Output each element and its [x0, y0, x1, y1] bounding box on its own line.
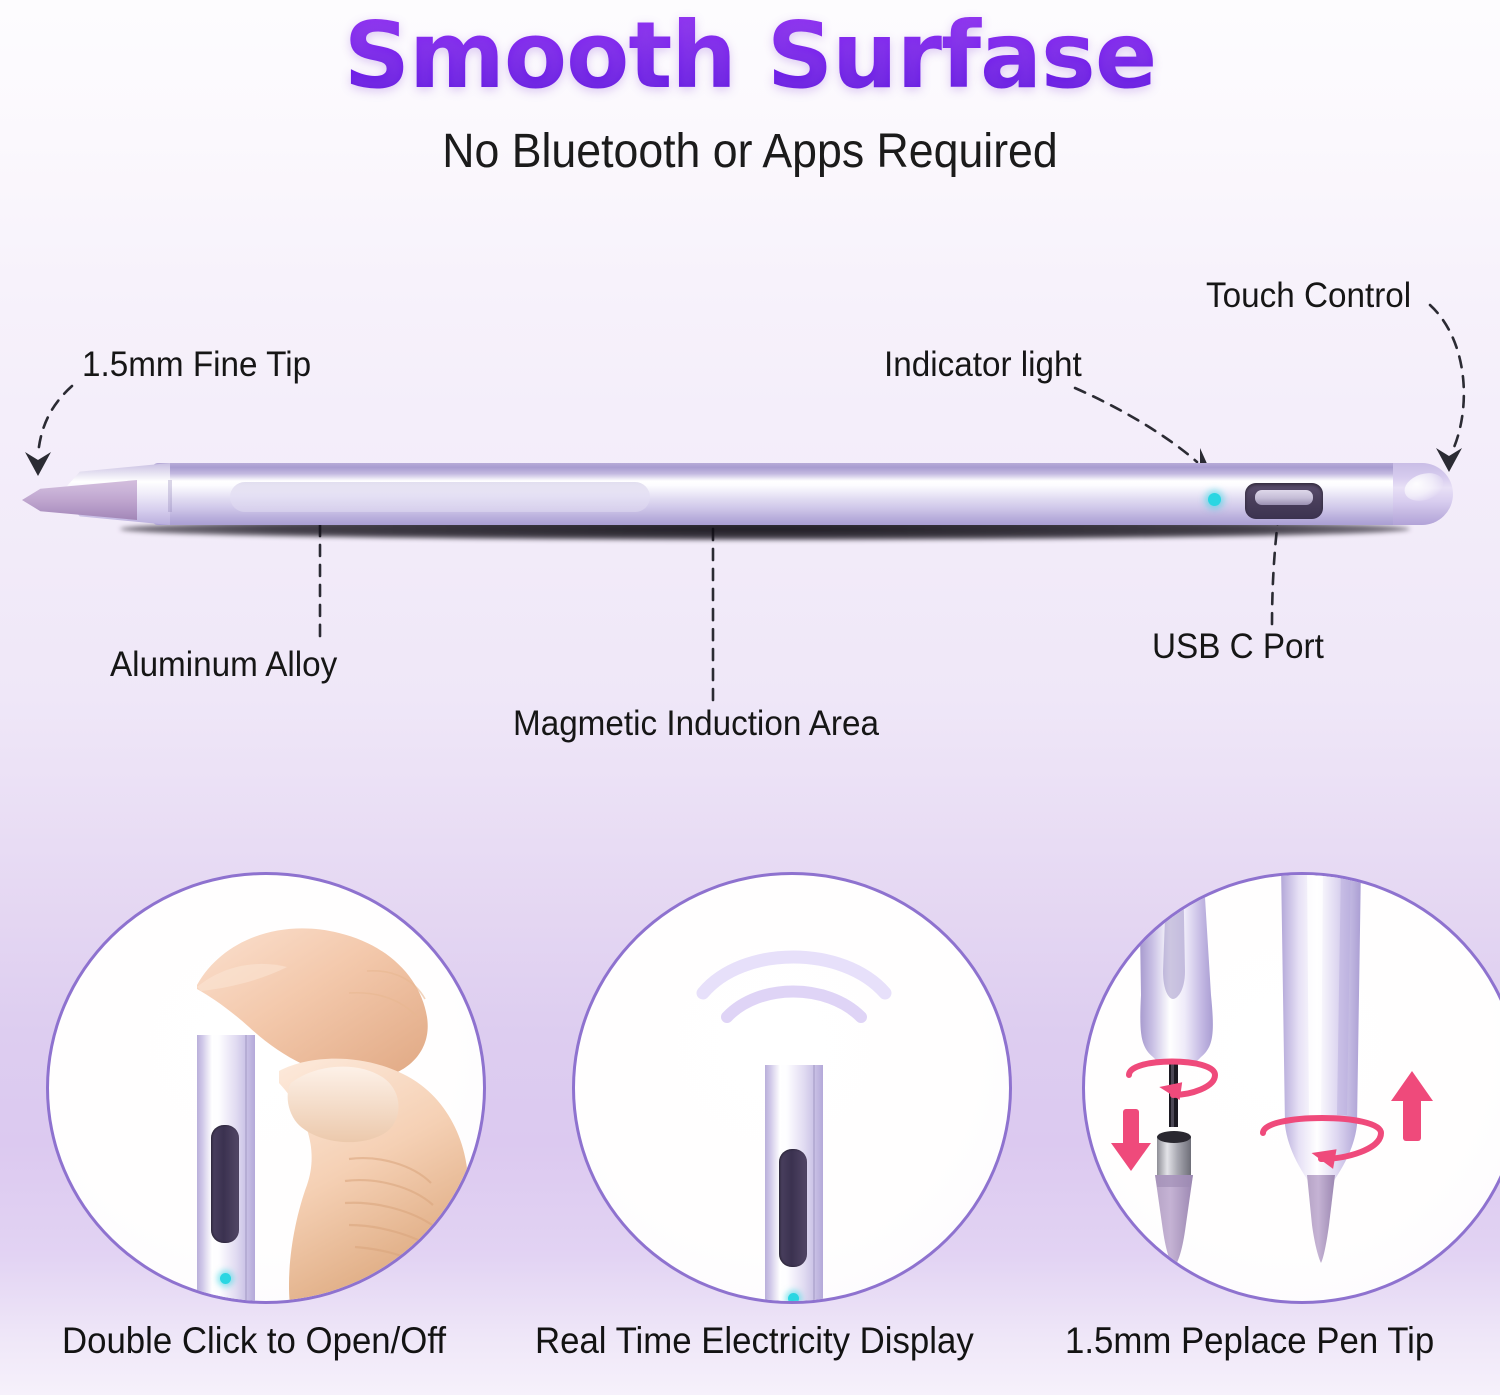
- page-title: Smooth Surfase: [0, 2, 1500, 109]
- usb-c-port: [779, 1149, 807, 1267]
- infographic-canvas: Smooth Surfase No Bluetooth or Apps Requ…: [0, 0, 1500, 1395]
- callout-label-fine-tip: 1.5mm Fine Tip: [82, 345, 311, 385]
- callout-label-aluminum-alloy: Aluminum Alloy: [110, 645, 337, 685]
- callout-label-indicator-light: Indicator light: [884, 345, 1082, 385]
- hand-illustration: [49, 875, 486, 1304]
- pen-tip: [22, 480, 137, 520]
- feature-panel-double-click: [46, 872, 486, 1304]
- panel-caption-replace-tip: 1.5mm Peplace Pen Tip: [1065, 1320, 1434, 1362]
- indicator-led: [1208, 493, 1221, 506]
- feature-panel-electricity: [572, 872, 1012, 1304]
- page-subtitle: No Bluetooth or Apps Required: [53, 124, 1448, 179]
- indicator-led: [788, 1293, 799, 1304]
- callout-label-touch-control: Touch Control: [1206, 276, 1411, 316]
- tip-replacement-diagram: [1085, 875, 1500, 1304]
- pen-seam-line: [813, 1065, 815, 1304]
- feature-circle-double-click: [46, 872, 486, 1304]
- feature-panel-replace-tip: [1082, 872, 1500, 1304]
- panel-caption-double-click: Double Click to Open/Off: [62, 1320, 446, 1362]
- pen-body-inset: [230, 482, 650, 512]
- panel-caption-electricity: Real Time Electricity Display: [535, 1320, 974, 1362]
- callout-label-magnetic-area: Magmetic Induction Area: [513, 704, 879, 744]
- pen-seam-line: [168, 480, 172, 512]
- callout-label-usb-c-port: USB C Port: [1152, 627, 1324, 667]
- usb-c-port-slot: [1255, 490, 1313, 505]
- pen-dome-gloss: [772, 1033, 798, 1051]
- feature-circle-replace-tip: [1082, 872, 1500, 1304]
- feature-circle-electricity: [572, 872, 1012, 1304]
- pen-top-dome: [765, 1023, 823, 1075]
